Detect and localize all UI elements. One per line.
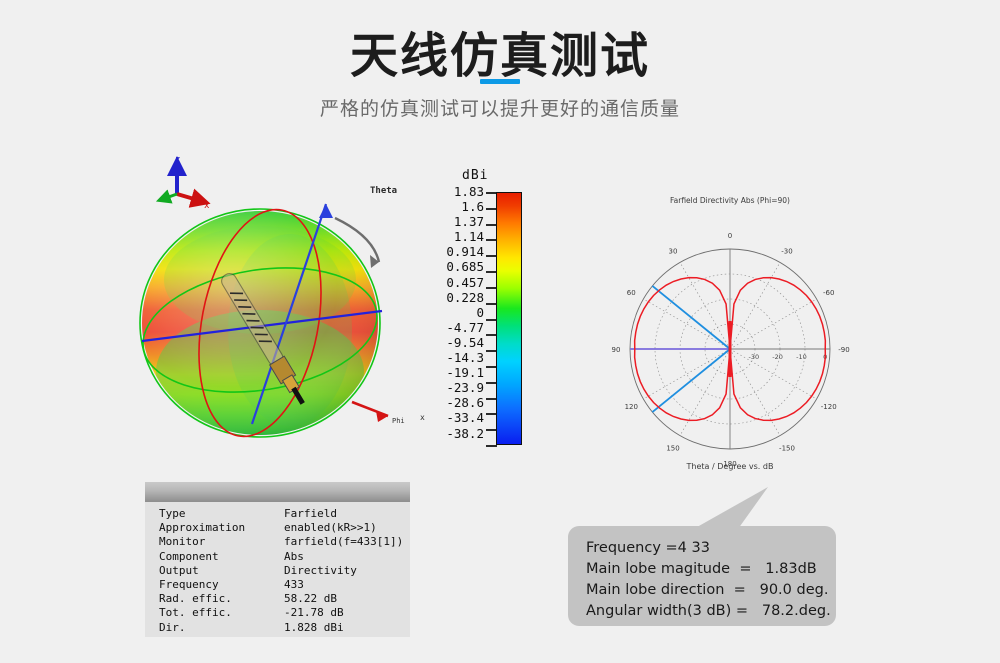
polar-angle-label: -30 (781, 247, 792, 255)
colorbar-tick-label: -38.2 (440, 426, 484, 441)
colorbar-tick-label: 0.457 (440, 275, 484, 290)
polar-angle-label: -150 (779, 445, 795, 453)
polar-radial-label: -20 (772, 353, 783, 361)
parameter-table: TypeFarfieldApproximationenabled(kR>>1)M… (145, 482, 410, 637)
polar-angle-label: -120 (821, 403, 837, 411)
table-row: ComponentAbs (159, 550, 409, 564)
colorbar-tick-label: -28.6 (440, 395, 484, 410)
polar-angle-label: 30 (669, 247, 678, 255)
page-subtitle: 严格的仿真测试可以提升更好的通信质量 (0, 94, 1000, 121)
callout-line: Main lobe magitude = 1.83dB (586, 559, 836, 580)
colorbar-tick-label: 0.228 (440, 290, 484, 305)
callout-line: Main lobe direction = 90.0 deg. (586, 580, 836, 601)
table-row: Approximationenabled(kR>>1) (159, 521, 409, 535)
table-row: Frequency433 (159, 578, 409, 592)
colorbar-tick-label: -19.1 (440, 365, 484, 380)
table-cell-value: Farfield (284, 507, 337, 521)
colorbar-panel: dBi 1.831.61.371.140.9140.6850.4570.2280… (440, 168, 545, 458)
svg-text:Phi: Phi (392, 417, 405, 425)
table-cell-value: Directivity (284, 564, 357, 578)
colorbar-tick-label: 1.83 (440, 184, 484, 199)
colorbar-gradient (496, 192, 522, 445)
polar-plot-canvas: 0306090120150180-30-60-90-120-150-30-20-… (600, 180, 860, 480)
polar-angle-label: -60 (823, 289, 834, 297)
table-cell-key: Output (159, 564, 199, 578)
callout-line: Angular width(3 dB) = 78.2.deg. (586, 601, 836, 622)
table-cell-key: Frequency (159, 578, 219, 592)
colorbar-tick-label: -4.77 (440, 320, 484, 335)
colorbar-tick-label: 0.685 (440, 259, 484, 274)
table-cell-value: -21.78 dB (284, 606, 344, 620)
colorbar-tick-label: -14.3 (440, 350, 484, 365)
polar-angle-label: 60 (627, 289, 636, 297)
table-row: OutputDirectivity (159, 564, 409, 578)
colorbar-tick-label: -23.9 (440, 380, 484, 395)
polar-angle-label: -90 (838, 346, 849, 354)
page-title: 天线仿真测试 (0, 16, 1000, 86)
colorbar-tick-label: 1.6 (440, 199, 484, 214)
table-row: Dir.1.828 dBi (159, 621, 409, 635)
table-cell-key: Monitor (159, 535, 205, 549)
table-cell-key: Type (159, 507, 186, 521)
colorbar-tick-label: -33.4 (440, 410, 484, 425)
colorbar-tick-label: -9.54 (440, 335, 484, 350)
polar-angle-label: 120 (625, 403, 638, 411)
table-cell-key: Tot. effic. (159, 606, 232, 620)
table-cell-key: Dir. (159, 621, 186, 635)
table-cell-key: Rad. effic. (159, 592, 232, 606)
callout-text: Frequency =4 33Main lobe magitude = 1.83… (586, 538, 836, 622)
colorbar-tick-label: 0 (440, 305, 484, 320)
polar-angle-label: 90 (612, 346, 621, 354)
polar-angle-label: 150 (666, 445, 679, 453)
svg-text:x: x (420, 413, 425, 422)
parameter-table-header-bar (145, 482, 410, 502)
table-row: Tot. effic.-21.78 dB (159, 606, 409, 620)
svg-text:z: z (175, 155, 180, 165)
table-cell-value: enabled(kR>>1) (284, 521, 377, 535)
polar-plot-title: Farfield Directivity Abs (Phi=90) (600, 196, 860, 205)
polar-angle-label: 0 (728, 232, 732, 240)
table-cell-value: 433 (284, 578, 304, 592)
colorbar-tick-label: 0.914 (440, 244, 484, 259)
table-cell-value: 58.22 dB (284, 592, 337, 606)
polar-plot-panel: Farfield Directivity Abs (Phi=90) 030609… (600, 180, 860, 480)
farfield-3d-pattern: Phi x (130, 180, 430, 470)
table-cell-value: farfield(f=433[1]) (284, 535, 403, 549)
colorbar-unit-label: dBi (462, 168, 488, 183)
colorbar-tick-label: 1.14 (440, 229, 484, 244)
table-row: Monitorfarfield(f=433[1]) (159, 535, 409, 549)
callout-line: Frequency =4 33 (586, 538, 836, 559)
beamwidth-edge-upper (652, 286, 730, 349)
table-cell-value: Abs (284, 550, 304, 564)
table-row: TypeFarfield (159, 507, 409, 521)
table-cell-key: Approximation (159, 521, 245, 535)
table-row: Rad. effic.58.22 dB (159, 592, 409, 606)
title-accent-rule (480, 79, 520, 84)
callout-box: Frequency =4 33Main lobe magitude = 1.83… (568, 526, 836, 626)
table-cell-key: Component (159, 550, 219, 564)
table-cell-value: 1.828 dBi (284, 621, 344, 635)
polar-plot-xlabel: Theta / Degree vs. dB (600, 462, 860, 471)
polar-radial-label: -10 (796, 353, 807, 361)
colorbar-tick-label: 1.37 (440, 214, 484, 229)
colorbar-tick-labels: 1.831.61.371.140.9140.6850.4570.2280-4.7… (440, 184, 484, 441)
polar-radial-label: -30 (748, 353, 759, 361)
parameter-table-body: TypeFarfieldApproximationenabled(kR>>1)M… (159, 507, 409, 635)
beamwidth-edge-lower (652, 349, 730, 412)
